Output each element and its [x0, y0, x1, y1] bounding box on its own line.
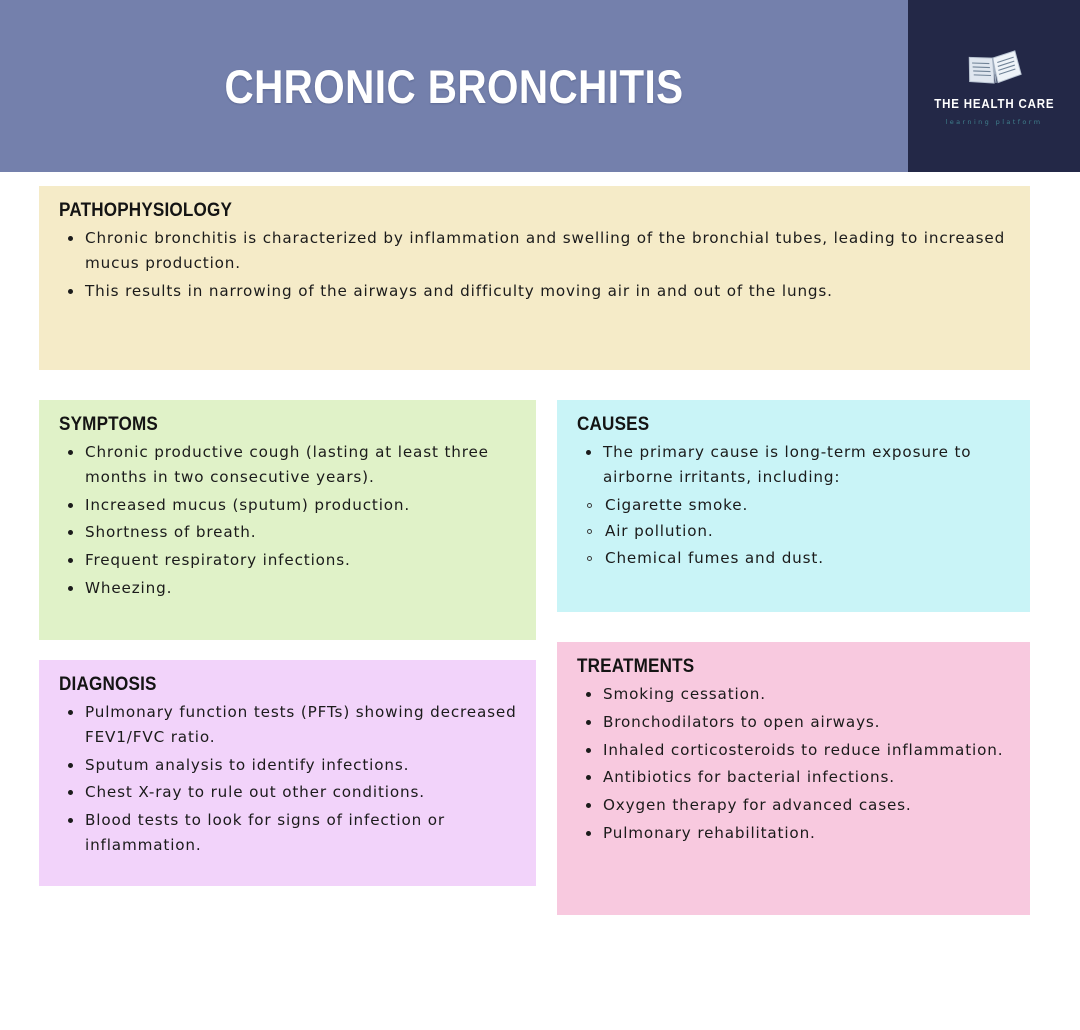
sub-list-item: Chemical fumes and dust.	[577, 546, 1012, 571]
page-header: CHRONIC BRONCHITIS THE HEALTH CARE	[0, 0, 1080, 172]
list-item: Inhaled corticosteroids to reduce inflam…	[577, 738, 1012, 763]
list-item: This results in narrowing of the airways…	[59, 279, 1012, 304]
sub-list-item: Air pollution.	[577, 519, 1012, 544]
brand-tagline: learning platform	[945, 118, 1042, 126]
list-item: Antibiotics for bacterial infections.	[577, 765, 1012, 790]
list-item: Sputum analysis to identify infections.	[59, 753, 518, 778]
list-item: Increased mucus (sputum) production.	[59, 493, 518, 518]
brand-logo-block: THE HEALTH CARE learning platform	[908, 0, 1080, 172]
list-item: Blood tests to look for signs of infecti…	[59, 808, 518, 858]
list-symptoms: Chronic productive cough (lasting at lea…	[59, 440, 518, 601]
sub-list-item: Cigarette smoke.	[577, 493, 1012, 518]
sublist-causes-irritants: Cigarette smoke. Air pollution. Chemical…	[577, 493, 1012, 571]
list-item: Pulmonary function tests (PFTs) showing …	[59, 700, 518, 750]
list-item: Smoking cessation.	[577, 682, 1012, 707]
list-item: Chest X-ray to rule out other conditions…	[59, 780, 518, 805]
card-title-treatments: TREATMENTS	[577, 656, 969, 678]
list-pathophysiology: Chronic bronchitis is characterized by i…	[59, 226, 1012, 303]
list-item: Shortness of breath.	[59, 520, 518, 545]
card-title-symptoms: SYMPTOMS	[59, 414, 472, 436]
list-item: Chronic productive cough (lasting at lea…	[59, 440, 518, 490]
card-title-causes: CAUSES	[577, 414, 969, 436]
card-pathophysiology: PATHOPHYSIOLOGY Chronic bronchitis is ch…	[39, 186, 1030, 370]
list-item: Frequent respiratory infections.	[59, 548, 518, 573]
list-item: Bronchodilators to open airways.	[577, 710, 1012, 735]
list-item: Chronic bronchitis is characterized by i…	[59, 226, 1012, 276]
open-book-icon	[963, 46, 1025, 90]
list-item: Oxygen therapy for advanced cases.	[577, 793, 1012, 818]
card-title-diagnosis: DIAGNOSIS	[59, 674, 472, 696]
card-symptoms: SYMPTOMS Chronic productive cough (lasti…	[39, 400, 536, 640]
card-title-pathophysiology: PATHOPHYSIOLOGY	[59, 200, 917, 222]
list-item: Wheezing.	[59, 576, 518, 601]
list-treatments: Smoking cessation. Bronchodilators to op…	[577, 682, 1012, 846]
list-causes: The primary cause is long-term exposure …	[577, 440, 1012, 490]
list-item: Pulmonary rehabilitation.	[577, 821, 1012, 846]
list-item: The primary cause is long-term exposure …	[577, 440, 1012, 490]
card-treatments: TREATMENTS Smoking cessation. Bronchodil…	[557, 642, 1030, 915]
list-diagnosis: Pulmonary function tests (PFTs) showing …	[59, 700, 518, 858]
brand-name: THE HEALTH CARE	[934, 97, 1054, 111]
card-causes: CAUSES The primary cause is long-term ex…	[557, 400, 1030, 612]
card-diagnosis: DIAGNOSIS Pulmonary function tests (PFTs…	[39, 660, 536, 886]
page-title: CHRONIC BRONCHITIS	[64, 0, 845, 172]
